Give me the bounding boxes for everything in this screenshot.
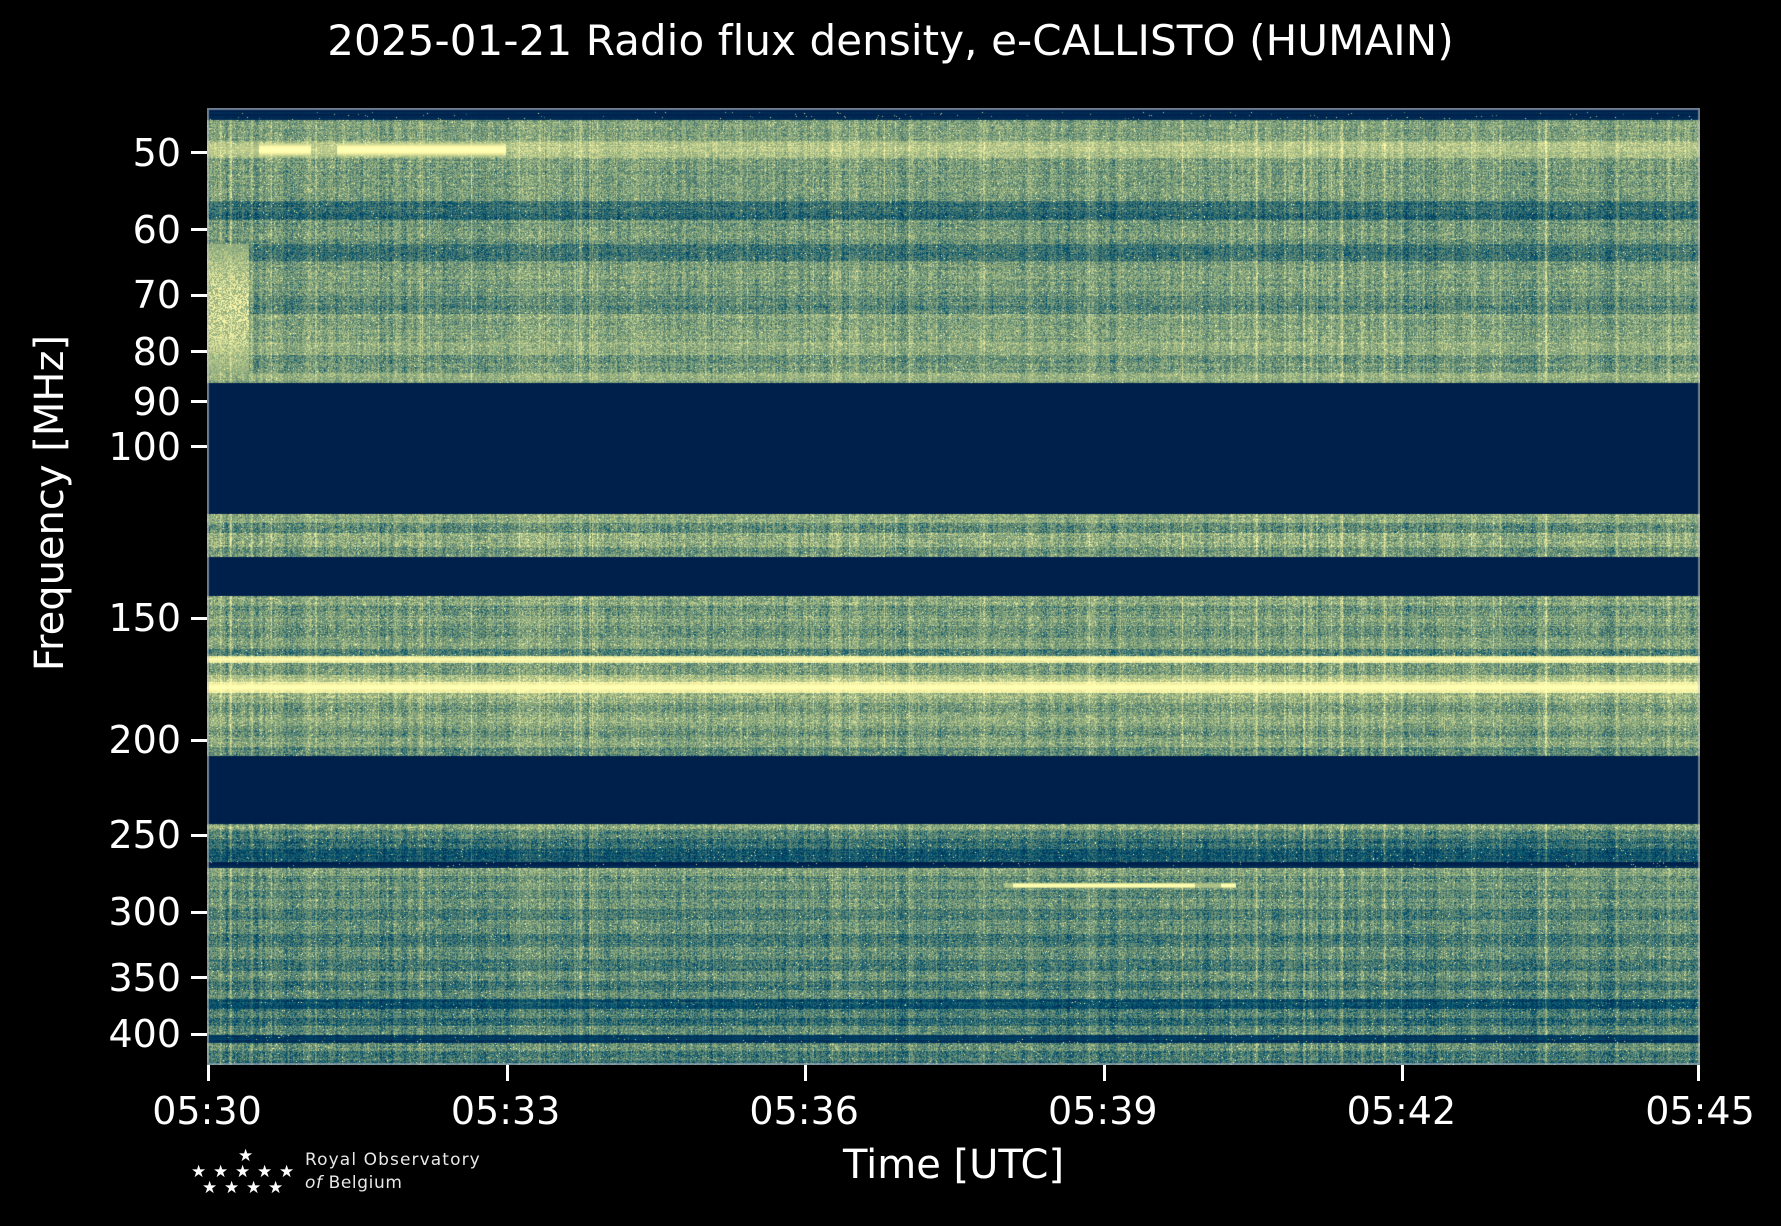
y-tick-300 [191, 911, 207, 914]
x-tick-label-05-39: 05:39 [1048, 1089, 1158, 1133]
y-tick-label-200: 200 [108, 718, 181, 762]
spectrogram-image [207, 108, 1700, 1065]
star-icon: ★ [202, 1180, 217, 1197]
x-tick-label-05-30: 05:30 [152, 1089, 262, 1133]
y-tick-60 [191, 228, 207, 231]
logo-belgium: Belgium [329, 1173, 403, 1193]
chart-title: 2025-01-21 Radio flux density, e-CALLIST… [0, 16, 1781, 65]
y-tick-label-250: 250 [108, 813, 181, 857]
y-tick-label-400: 400 [108, 1012, 181, 1056]
y-tick-200 [191, 739, 207, 742]
x-tick-label-05-42: 05:42 [1347, 1089, 1457, 1133]
x-tick-05-42 [1401, 1065, 1404, 1081]
y-tick-400 [191, 1033, 207, 1036]
logo-of: of [305, 1173, 323, 1193]
x-tick-05-39 [1103, 1065, 1106, 1081]
y-tick-label-300: 300 [108, 890, 181, 934]
y-tick-150 [191, 617, 207, 620]
y-tick-label-150: 150 [108, 596, 181, 640]
y-tick-label-80: 80 [133, 330, 181, 374]
y-tick-100 [191, 445, 207, 448]
x-tick-05-36 [804, 1065, 807, 1081]
x-tick-label-05-36: 05:36 [749, 1089, 859, 1133]
star-icon: ★ [224, 1180, 239, 1197]
x-tick-05-30 [207, 1065, 210, 1081]
star-icon: ★ [268, 1180, 283, 1197]
x-tick-label-05-33: 05:33 [451, 1089, 561, 1133]
logo-line-1: Royal Observatory [305, 1150, 481, 1170]
spectrogram-plot-area[interactable] [207, 108, 1700, 1065]
y-tick-70 [191, 294, 207, 297]
y-tick-50 [191, 151, 207, 154]
y-tick-label-60: 60 [133, 208, 181, 252]
y-axis-title: Frequency [MHz] [27, 123, 73, 883]
x-tick-05-45 [1697, 1065, 1700, 1081]
figure-canvas: 2025-01-21 Radio flux density, e-CALLIST… [0, 0, 1781, 1226]
y-tick-label-70: 70 [133, 273, 181, 317]
royal-observatory-logo: ★★★★★★★★★★ Royal Observatory of Belgium [185, 1148, 605, 1218]
logo-text: Royal Observatory of Belgium [305, 1150, 481, 1193]
y-tick-label-50: 50 [133, 131, 181, 175]
y-tick-label-350: 350 [108, 956, 181, 1000]
eu-stars-icon: ★★★★★★★★★★ [185, 1148, 295, 1200]
star-icon: ★ [246, 1180, 261, 1197]
y-tick-350 [191, 976, 207, 979]
y-tick-80 [191, 350, 207, 353]
y-tick-90 [191, 400, 207, 403]
y-tick-label-90: 90 [133, 380, 181, 424]
y-tick-label-100: 100 [108, 425, 181, 469]
y-tick-250 [191, 834, 207, 837]
x-tick-label-05-45: 05:45 [1645, 1089, 1755, 1133]
x-tick-05-33 [506, 1065, 509, 1081]
logo-line-2: of Belgium [305, 1173, 481, 1193]
